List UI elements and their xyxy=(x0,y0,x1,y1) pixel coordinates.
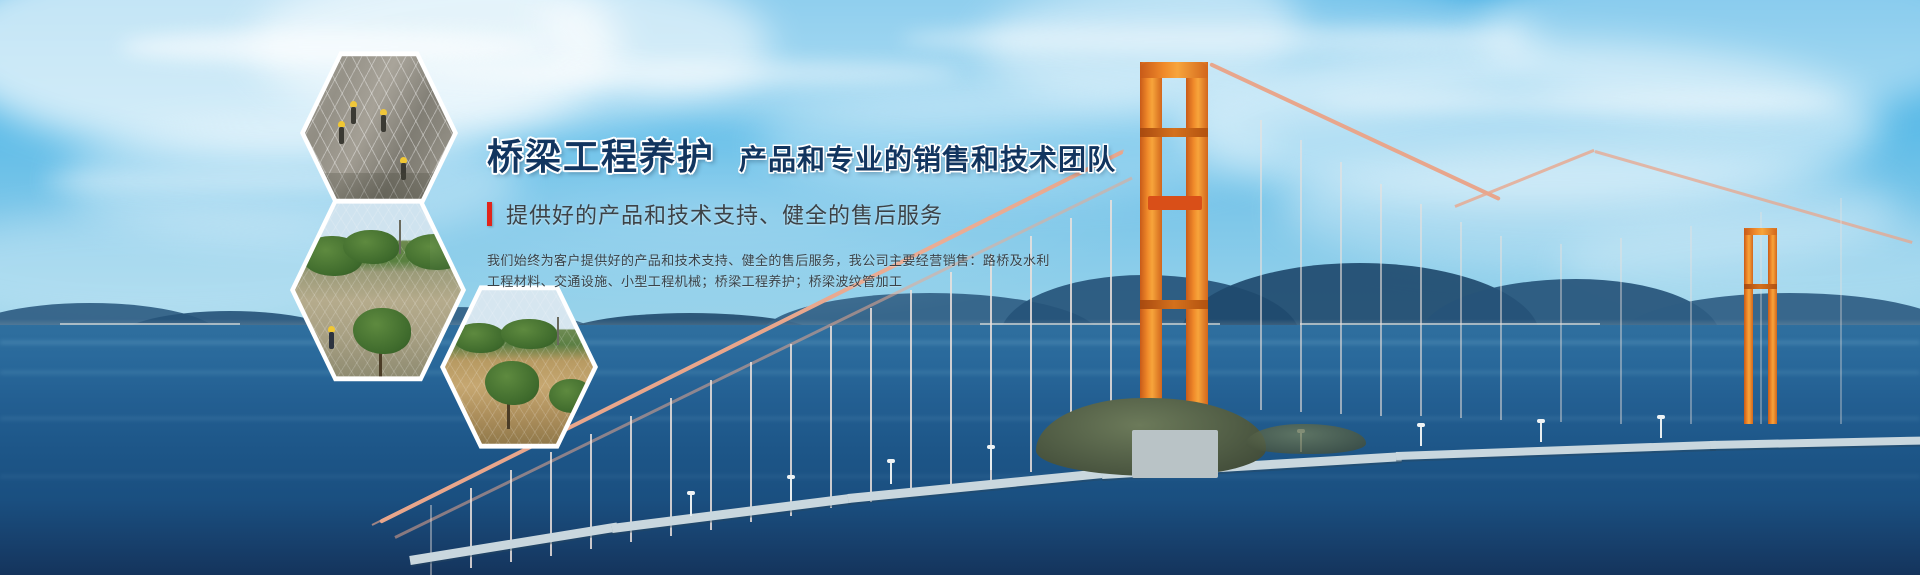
photo-slope-protection-netting xyxy=(295,200,461,380)
tagline-text: 提供好的产品和技术支持、健全的售后服务 xyxy=(506,198,943,230)
photo-roadside-slope-netting xyxy=(445,287,593,447)
photo-rockfall-mesh-installation xyxy=(305,53,453,213)
hero-banner: 桥梁工程养护 产品和专业的销售和技术团队 提供好的产品和技术支持、健全的售后服务… xyxy=(0,0,1920,575)
headline-main: 桥梁工程养护 xyxy=(487,128,715,180)
tagline-row: 提供好的产品和技术支持、健全的售后服务 xyxy=(487,198,1107,230)
headline-secondary: 产品和专业的销售和技术团队 xyxy=(739,138,1116,178)
hex-photo-1[interactable] xyxy=(300,48,458,218)
body-line-1: 我们始终为客户提供好的产品和技术支持、健全的售后服务，我公司主要经营销售：路桥及… xyxy=(487,250,1107,271)
red-accent-bar xyxy=(487,202,492,226)
hex-photo-3[interactable] xyxy=(440,282,598,452)
body-line-2: 工程材料、交通设施、小型工程机械；桥梁工程养护；桥梁波纹管加工 xyxy=(487,271,1107,292)
body-paragraph: 我们始终为客户提供好的产品和技术支持、健全的售后服务，我公司主要经营销售：路桥及… xyxy=(487,250,1107,292)
sea-background xyxy=(0,325,1920,575)
headline-row: 桥梁工程养护 产品和专业的销售和技术团队 xyxy=(487,128,1107,180)
banner-copy: 桥梁工程养护 产品和专业的销售和技术团队 提供好的产品和技术支持、健全的售后服务… xyxy=(487,128,1107,292)
